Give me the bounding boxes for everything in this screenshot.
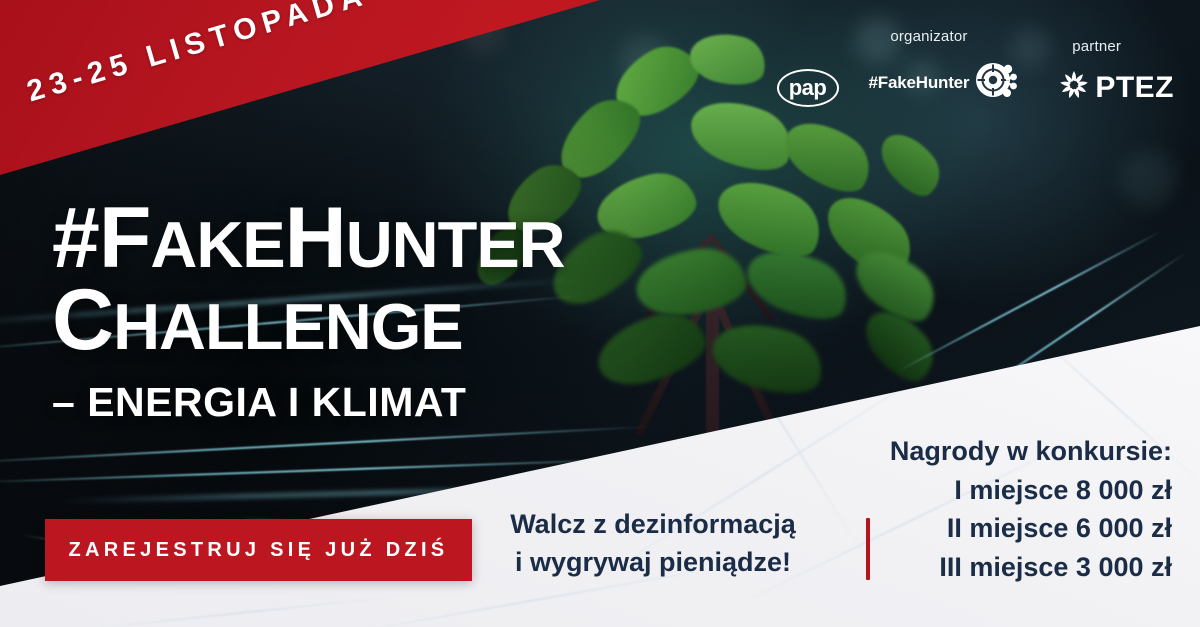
title-block: #FAKEHUNTER CHALLENGE – ENERGIA I KLIMAT: [52, 198, 565, 426]
organizer-group: organizator #FakeHunter: [839, 28, 1020, 107]
fakehunter-logo-label: #FakeHunter: [869, 73, 970, 93]
tagline: Walcz z dezinformacją i wygrywaj pieniąd…: [478, 505, 828, 582]
sunburst-icon: [1057, 68, 1091, 107]
register-button-label: ZAREJESTRUJ SIĘ JUŻ DZIŚ: [69, 539, 449, 562]
pap-logo-group: · pap: [777, 39, 839, 107]
partner-caption: partner: [1072, 38, 1121, 55]
fakehunter-logo[interactable]: #FakeHunter: [869, 58, 1020, 107]
prizes-heading: Nagrody w konkursie:: [890, 432, 1172, 471]
target-crosshair-icon: [975, 58, 1019, 107]
title-line-1: #FAKEHUNTER: [52, 198, 565, 280]
tagline-line-1: Walcz z dezinformacją: [478, 505, 828, 543]
title-part-h: H: [285, 190, 346, 286]
logo-bar: · pap organizator #FakeHunter: [777, 28, 1174, 107]
pap-logo-label: pap: [789, 77, 827, 99]
register-button[interactable]: ZAREJESTRUJ SIĘ JUŻ DZIŚ: [45, 519, 472, 581]
ptez-logo-label: PTEZ: [1095, 71, 1174, 105]
prize-item: I miejsce 8 000 zł: [890, 471, 1172, 510]
title-part-unter: UNTER: [346, 208, 565, 281]
title-part-hallenge: HALLENGE: [113, 290, 463, 363]
prize-item: III miejsce 3 000 zł: [890, 548, 1172, 587]
tagline-line-2: i wygrywaj pieniądze!: [478, 543, 828, 581]
prizes-block: Nagrody w konkursie: I miejsce 8 000 zł …: [890, 432, 1172, 586]
event-subtitle: – ENERGIA I KLIMAT: [52, 379, 565, 426]
promo-banner: 23-25 LISTOPADA · pap organizator #FakeH…: [0, 0, 1200, 627]
title-part-c: C: [52, 272, 113, 368]
prize-item: II miejsce 6 000 zł: [890, 509, 1172, 548]
ptez-logo[interactable]: PTEZ: [1057, 68, 1174, 107]
organizer-caption: organizator: [890, 28, 967, 45]
title-line-2: CHALLENGE: [52, 280, 565, 362]
title-part-ake: AKE: [150, 208, 284, 281]
partner-group: partner: [1019, 38, 1174, 107]
pap-logo[interactable]: pap: [777, 69, 839, 107]
vertical-divider: [866, 518, 870, 580]
